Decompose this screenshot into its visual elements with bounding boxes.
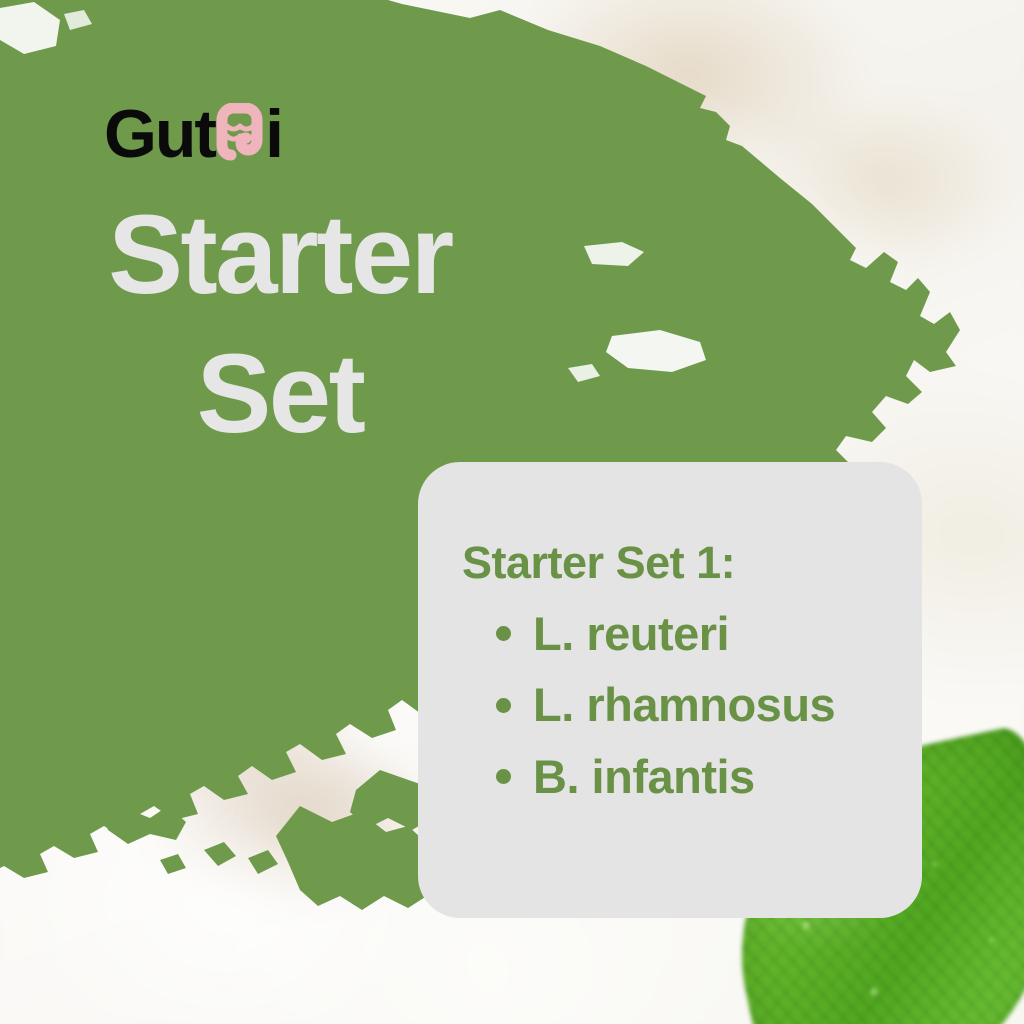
card-title: Starter Set 1: [462,540,892,585]
gut-intestine-icon [210,103,268,165]
brand-name-suffix: i [265,100,282,168]
strain-label: L. reuteri [533,609,729,658]
strain-list: L. reuteri L. rhamnosus B. infantis [440,609,892,801]
bullet-icon [496,698,511,713]
list-item: L. rhamnosus [440,680,892,729]
strain-label: L. rhamnosus [533,680,835,729]
bullet-icon [496,769,511,784]
brand-name-prefix: Gut [104,100,215,168]
page-title: Starter Set [0,186,560,464]
starter-set-card: Starter Set 1: L. reuteri L. rhamnosus B… [418,462,922,918]
headline-line-1: Starter [0,186,560,325]
brand-logo[interactable]: Gut i [104,96,282,172]
bullet-icon [496,626,511,641]
strain-label: B. infantis [533,752,755,801]
list-item: B. infantis [440,752,892,801]
list-item: L. reuteri [440,609,892,658]
poster-canvas: Gut i Starter Set Starter Set 1: L. reut… [0,0,1024,1024]
headline-line-2: Set [0,325,560,464]
